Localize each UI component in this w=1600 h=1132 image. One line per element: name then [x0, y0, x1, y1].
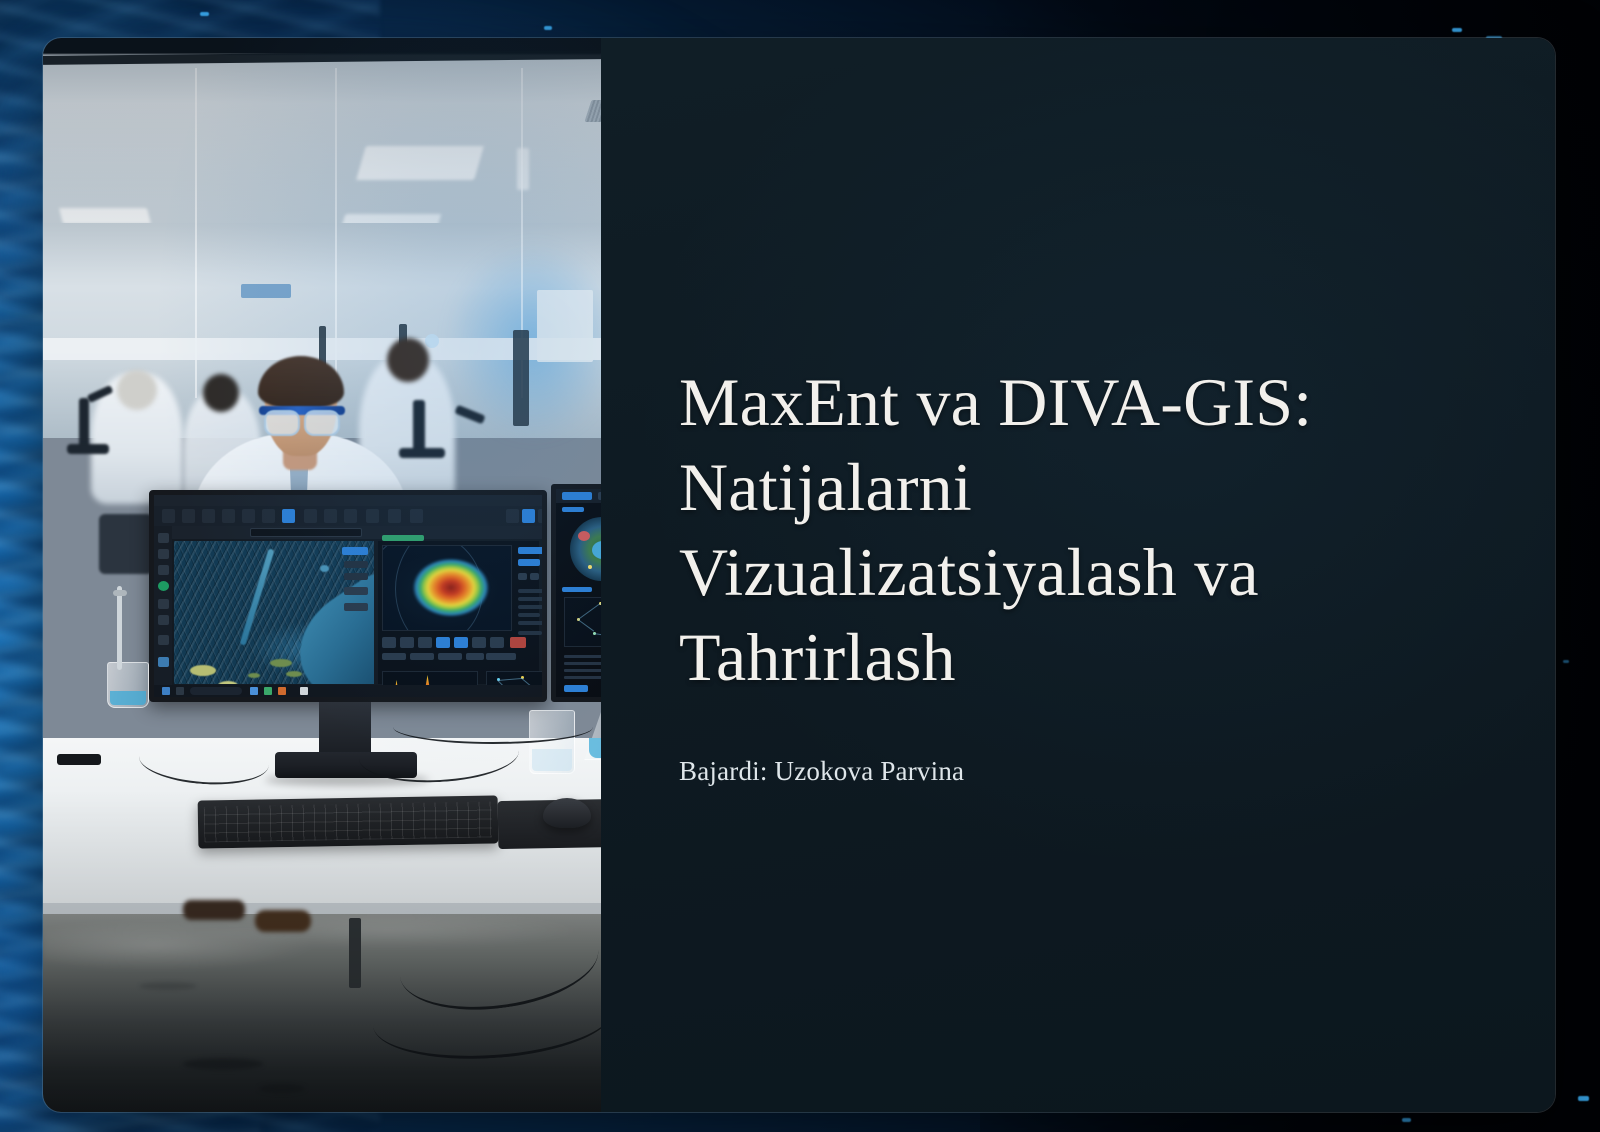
ribbon-button: [162, 509, 175, 523]
microscope: [79, 398, 89, 450]
safety-goggles-lens: [304, 410, 340, 436]
ribbon-button: [388, 509, 401, 523]
map-zoom-button: [342, 547, 368, 555]
network-edge: [578, 604, 600, 620]
map-tool-button: [344, 587, 368, 595]
primary-monitor: [149, 490, 547, 702]
network-edge: [577, 619, 594, 632]
map-lake: [320, 565, 329, 572]
slide-title: MaxEnt va DIVA-GIS: Natijalarni Vizualiz…: [679, 360, 1414, 700]
taskbar-icon: [264, 687, 272, 695]
ribbon-button: [506, 509, 519, 523]
slide-card: MaxEnt va DIVA-GIS: Natijalarni Vizualiz…: [43, 38, 1555, 1112]
legend-item: [518, 597, 544, 601]
secondary-footer-chip: [564, 685, 588, 692]
panel-header-chip: [562, 507, 584, 512]
scientist-shoe: [255, 910, 311, 932]
slide-text-panel: MaxEnt va DIVA-GIS: Natijalarni Vizualiz…: [601, 38, 1555, 1112]
microscope: [399, 448, 445, 458]
panel-readout: [486, 653, 516, 660]
secondary-table-row: [564, 662, 601, 665]
suitability-heatmap: [382, 545, 512, 631]
analysis-button: [400, 637, 414, 648]
sidebar-icon: [158, 615, 169, 625]
analysis-button-danger: [510, 637, 526, 648]
map-island: [286, 671, 302, 677]
legend-button: [542, 573, 547, 580]
analysis-button: [382, 637, 396, 648]
ribbon-button: [182, 509, 195, 523]
slide-photo: [43, 38, 601, 1112]
taskbar-icon: [162, 687, 170, 695]
secondary-table-row: [564, 655, 601, 658]
taskbar-icon: [300, 687, 308, 695]
taskbar-icon: [278, 687, 286, 695]
layer-selector: [250, 528, 362, 537]
heatmap-title-chip: [382, 535, 424, 541]
beaker-liquid: [110, 691, 146, 705]
analysis-button-active: [454, 637, 468, 648]
ribbon-button: [324, 509, 337, 523]
analysis-button: [490, 637, 504, 648]
ceiling-light: [517, 148, 529, 190]
background-colleague-head: [387, 338, 429, 382]
lab-equipment: [241, 284, 291, 298]
safety-goggles-lens: [264, 410, 300, 436]
map-vegetation-patch: [190, 665, 216, 676]
ribbon-button-active: [282, 509, 295, 523]
microscope: [99, 514, 153, 574]
plot-point: [588, 565, 592, 569]
background-speck: [1402, 1118, 1411, 1122]
sidebar-icon: [158, 549, 169, 559]
taskbar-icon: [250, 687, 258, 695]
legend-action-chip: [518, 559, 540, 566]
map-island: [248, 673, 260, 678]
panel-header-chip: [562, 587, 592, 592]
map-side-label: [344, 573, 368, 580]
stand-clamp: [113, 590, 127, 596]
floor-mark: [259, 1084, 305, 1093]
secondary-monitor: [551, 484, 601, 702]
desk-cable: [393, 710, 593, 744]
chart-field: [438, 653, 462, 660]
ribbon-button: [538, 509, 547, 523]
secondary-toolbar-button-active: [562, 492, 592, 500]
microscope: [413, 400, 425, 454]
legend-item: [518, 621, 547, 625]
lab-beaker: [107, 662, 149, 708]
legend-item: [518, 631, 542, 635]
sidebar-icon: [158, 565, 169, 575]
lab-equipment: [537, 290, 593, 362]
plot-cluster: [592, 541, 601, 559]
ribbon-button: [366, 509, 379, 523]
app-title-bar: [154, 495, 542, 506]
map-side-label: [344, 561, 368, 568]
network-edge: [498, 678, 523, 681]
flask-liquid: [589, 738, 601, 758]
analysis-button-active: [436, 637, 450, 648]
sidebar-icon: [158, 635, 169, 645]
legend-button: [530, 573, 539, 580]
ribbon-button: [222, 509, 235, 523]
sidebar-icon: [158, 599, 169, 609]
taskbar-icon: [176, 687, 184, 695]
map-island: [270, 659, 292, 667]
ribbon-button: [304, 509, 317, 523]
background-speck: [1578, 1096, 1589, 1101]
background-speck: [1452, 28, 1462, 32]
ribbon-button: [522, 509, 535, 523]
lab-equipment: [425, 334, 439, 348]
desk-leg: [349, 918, 361, 988]
legend-item: [518, 589, 547, 593]
background-speck: [1563, 660, 1569, 663]
stand-rod: [117, 586, 122, 670]
chart-field: [382, 653, 406, 660]
secondary-table-row: [564, 669, 601, 672]
taskbar-search-field: [190, 687, 242, 695]
ribbon-button: [344, 509, 357, 523]
background-speck: [544, 26, 552, 30]
legend-button: [518, 573, 527, 580]
desk-connector: [57, 754, 101, 765]
secondary-network-diagram: [564, 597, 601, 647]
legend-item: [518, 605, 546, 609]
sidebar-icon: [158, 533, 169, 543]
scientist-shoe: [183, 900, 245, 920]
network-edge: [594, 633, 601, 639]
monitor-stand-neck: [319, 702, 371, 756]
floor-mark: [183, 1058, 263, 1070]
ribbon-button: [242, 509, 255, 523]
ceiling-light: [59, 208, 151, 224]
microscope: [67, 444, 109, 454]
secondary-table-row: [564, 676, 601, 679]
legend-value-chip: [518, 547, 544, 554]
slide-subtitle-author: Bajardi: Uzokova Parvina: [679, 756, 1555, 787]
network-node: [527, 698, 530, 701]
ribbon-button: [262, 509, 275, 523]
map-vegetation-patch: [218, 681, 238, 684]
slide-canvas: MaxEnt va DIVA-GIS: Natijalarni Vizualiz…: [0, 0, 1600, 1132]
floor-mark: [139, 982, 197, 990]
plot-cluster: [578, 531, 590, 541]
keyboard: [198, 795, 499, 848]
glass-liquid: [532, 749, 572, 771]
background-colleague-head: [117, 370, 157, 410]
chart-field: [466, 653, 484, 660]
ribbon-button: [202, 509, 215, 523]
ribbon-button: [410, 509, 423, 523]
legend-item: [518, 613, 540, 617]
background-speck: [200, 12, 209, 16]
chart-field: [410, 653, 434, 660]
lab-equipment: [513, 330, 529, 426]
keyboard-keys: [204, 801, 493, 842]
analysis-button: [418, 637, 432, 648]
computer-mouse: [543, 798, 591, 828]
analysis-button: [472, 637, 486, 648]
ceiling-light: [356, 146, 484, 180]
background-colleague-head: [203, 374, 239, 412]
map-tool-button: [344, 603, 368, 611]
sidebar-icon: [158, 657, 169, 667]
circular-distribution-plot: [570, 517, 601, 581]
sidebar-icon-status: [158, 581, 169, 591]
